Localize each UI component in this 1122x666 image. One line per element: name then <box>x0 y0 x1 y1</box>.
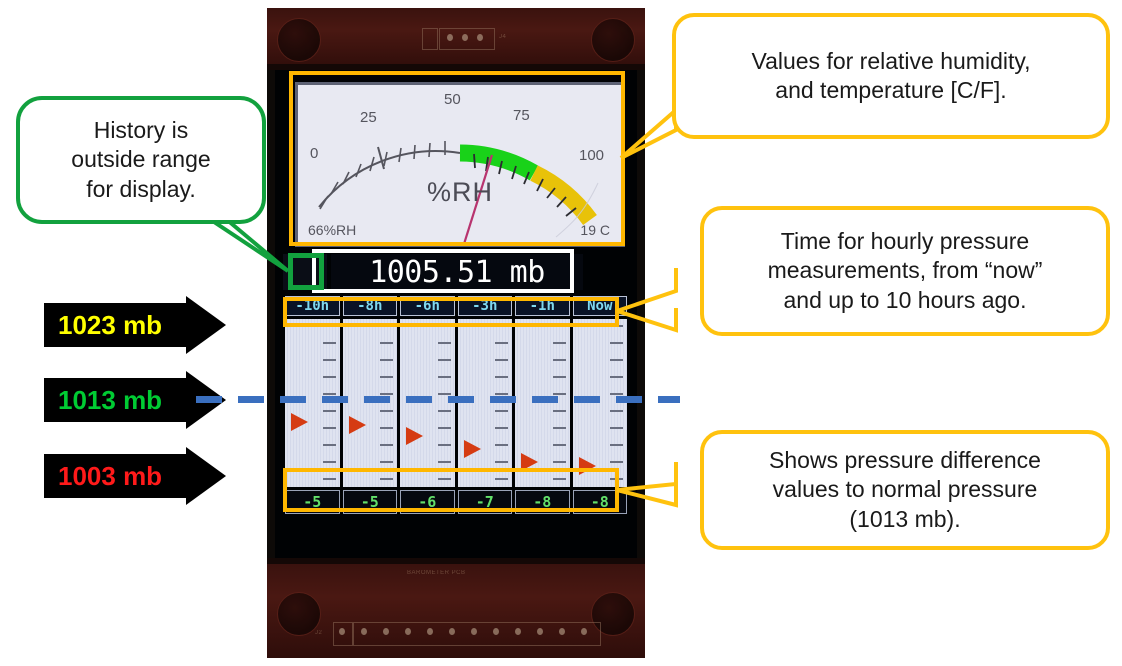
gauge-tick-25 <box>378 147 384 169</box>
barometer-device: J4 <box>267 8 645 658</box>
history-column[interactable]: -6h -6 <box>400 296 455 514</box>
callout-time: Time for hourly pressure measurements, f… <box>700 206 1110 336</box>
history-value: -6 <box>400 490 455 514</box>
history-column[interactable]: -10h -5 <box>285 296 340 514</box>
callout-history: History is outside range for display. <box>16 96 266 224</box>
pressure-scale-marker-high: 1023 mb <box>44 303 226 347</box>
tick-scale <box>437 319 451 487</box>
history-bar-track <box>400 319 455 487</box>
marker-label: 1023 mb <box>44 303 186 347</box>
history-column[interactable]: -1h -8 <box>515 296 570 514</box>
marker-label: 1003 mb <box>44 454 186 498</box>
gauge-label-100: 100 <box>579 147 604 164</box>
header-pin-1 <box>422 28 438 50</box>
silkscreen-label: BAROMETER PCB <box>407 570 466 576</box>
callout-difference: Shows pressure difference values to norm… <box>700 430 1110 550</box>
tick-scale <box>379 319 393 487</box>
gauge-label-25: 25 <box>360 109 377 126</box>
gauge-label-50: 50 <box>444 91 461 108</box>
marker-text: 1013 mb <box>58 385 162 416</box>
gauge-band-green <box>460 153 534 173</box>
tick-scale <box>322 319 336 487</box>
history-header[interactable]: -10h <box>285 296 340 316</box>
history-bar-track <box>343 319 398 487</box>
history-column[interactable]: -8h -5 <box>343 296 398 514</box>
gauge-label-75: 75 <box>513 107 530 124</box>
history-out-of-range-slot[interactable] <box>283 254 327 290</box>
history-header[interactable]: -3h <box>458 296 513 316</box>
pcb-top-edge: J4 <box>267 8 645 70</box>
current-pressure-value[interactable]: 1005.51 mb <box>331 254 583 290</box>
history-bar-track <box>285 319 340 487</box>
history-column[interactable]: Now -8 <box>573 296 628 514</box>
marker-label: 1013 mb <box>44 378 186 422</box>
gauge-dial-svg <box>298 85 622 244</box>
lcd-screen: 0 25 50 75 100 %RH 66%RH 19 C 1005.51 mb… <box>275 70 637 564</box>
pressure-history-chart: -10h -5 -8h -5 <box>285 296 627 514</box>
history-marker <box>579 457 596 475</box>
gauge-unit-label: %RH <box>427 177 493 208</box>
history-value: -5 <box>343 490 398 514</box>
tick-scale <box>552 319 566 487</box>
tick-scale <box>494 319 508 487</box>
callout-humidity: Values for relative humidity, and temper… <box>672 13 1110 139</box>
pin-dot <box>462 34 468 41</box>
pcb-bottom-edge: BAROMETER PCB J2 <box>267 564 645 658</box>
history-marker <box>521 453 538 471</box>
marker-text: 1003 mb <box>58 461 162 492</box>
pressure-readout-row: 1005.51 mb <box>283 254 629 290</box>
pin-dot <box>447 34 453 41</box>
history-column[interactable]: -3h -7 <box>458 296 513 514</box>
temperature-value: 19 C <box>580 222 610 238</box>
history-value: -8 <box>515 490 570 514</box>
marker-text: 1023 mb <box>58 310 162 341</box>
tick-scale <box>609 319 623 487</box>
history-bar-track <box>573 319 628 487</box>
history-value: -5 <box>285 490 340 514</box>
history-header[interactable]: -8h <box>343 296 398 316</box>
history-bar-track <box>515 319 570 487</box>
history-marker <box>464 440 481 458</box>
gauge-label-0: 0 <box>310 145 318 162</box>
pressure-scale-marker-low: 1003 mb <box>44 454 226 498</box>
history-bar-track <box>458 319 513 487</box>
normal-pressure-reference-line <box>196 396 680 403</box>
history-header[interactable]: Now <box>573 296 628 316</box>
screw-hole-top-left <box>277 18 321 62</box>
gauge-face: 0 25 50 75 100 %RH 66%RH 19 C <box>298 85 622 244</box>
arrow-head-icon <box>186 447 226 505</box>
history-marker <box>406 427 423 445</box>
history-header[interactable]: -1h <box>515 296 570 316</box>
silkscreen-label: J2 <box>315 630 322 636</box>
history-marker <box>349 416 366 434</box>
screw-hole-top-right <box>591 18 635 62</box>
history-marker <box>291 413 308 431</box>
humidity-value: 66%RH <box>308 222 356 238</box>
history-header[interactable]: -6h <box>400 296 455 316</box>
history-value: -8 <box>573 490 628 514</box>
humidity-gauge-panel[interactable]: 0 25 50 75 100 %RH 66%RH 19 C <box>295 82 625 247</box>
history-value: -7 <box>458 490 513 514</box>
pin-dot <box>477 34 483 41</box>
arrow-head-icon <box>186 296 226 354</box>
silkscreen-label: J4 <box>499 34 506 40</box>
